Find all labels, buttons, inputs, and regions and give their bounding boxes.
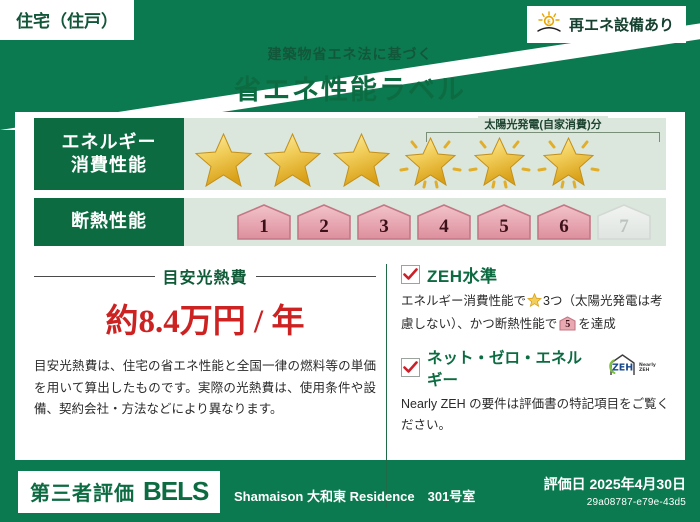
insulation-level-number: 7 — [619, 216, 629, 241]
zeh-house-logo-icon: ZEH Nearly ZEH — [608, 352, 670, 383]
zeh-body-part1: エネルギー消費性能で — [401, 294, 526, 308]
insulation-level-number: 4 — [439, 216, 449, 241]
energy-row-body: 太陽光発電(自家消費)分 — [184, 118, 666, 190]
star-icon — [328, 130, 395, 190]
evaluation-info: 評価日 2025年4月30日 29a08787-e79e-43d5 — [544, 474, 686, 508]
checkbox-checked-icon — [401, 358, 420, 377]
insulation-row-label: 断熱性能 — [34, 198, 184, 246]
cost-heading-text: 目安光熱費 — [163, 264, 248, 288]
net-zero-block: ネット・ゼロ・エネルギー ZEH Nearly ZEH Nearly ZEH の… — [401, 346, 670, 437]
cost-value: 約8.4万円 / 年 — [34, 294, 376, 342]
property-name: Shamaison 大和東 Residence 301号室 — [234, 486, 475, 505]
star-icon — [259, 130, 326, 190]
net-zero-title: ネット・ゼロ・エネルギー — [427, 346, 597, 390]
zeh-standard-title: ZEH水準 — [427, 262, 498, 287]
insulation-row-body: 1 2 3 — [184, 198, 666, 246]
renewable-badge-label: 再エネ設備あり — [569, 14, 674, 35]
insulation-level-inactive: 7 — [596, 203, 652, 241]
zeh-standard-body: エネルギー消費性能で3つ（太陽光発電は考慮しない）、かつ断熱性能で5を達成 — [401, 291, 670, 336]
insulation-badge-number: 5 — [559, 316, 576, 331]
cost-rule-right — [256, 276, 377, 277]
insulation-row: 断熱性能 1 — [34, 198, 666, 246]
svg-text:ZEH: ZEH — [639, 367, 649, 373]
star-icon-solar — [466, 130, 533, 190]
svg-text:E: E — [547, 20, 551, 26]
insulation-row-label-text: 断熱性能 — [71, 211, 147, 232]
bels-en-label: BELS — [143, 476, 208, 507]
insulation-level-number: 1 — [259, 216, 269, 241]
insulation-level: 6 — [536, 203, 592, 241]
energy-consumption-row: エネルギー 消費性能 太陽光発電(自家消費)分 — [34, 118, 666, 190]
evaluation-id: 29a08787-e79e-43d5 — [544, 497, 686, 508]
insulation-level: 5 — [476, 203, 532, 241]
energy-row-label: エネルギー 消費性能 — [34, 118, 184, 190]
performance-rows: エネルギー 消費性能 太陽光発電(自家消費)分 — [34, 118, 666, 254]
title-main: 省エネ性能ラベル — [0, 68, 700, 107]
cost-heading: 目安光熱費 — [34, 264, 376, 288]
svg-text:ZEH: ZEH — [612, 363, 633, 374]
energy-performance-label: 住宅（住戸） E 再エネ設備あり 建築物省エネ法に基づく 省エネ性能ラベル — [0, 0, 700, 522]
star-rating — [184, 118, 602, 190]
star-icon — [190, 130, 257, 190]
insulation-level: 1 — [236, 203, 292, 241]
cost-rule-left — [34, 276, 155, 277]
footer-bar: 第三者評価 BELS Shamaison 大和東 Residence 301号室… — [0, 460, 700, 522]
insulation-level: 3 — [356, 203, 412, 241]
net-zero-header: ネット・ゼロ・エネルギー ZEH Nearly ZEH — [401, 346, 670, 390]
bels-certification-box: 第三者評価 BELS — [18, 471, 220, 513]
insulation-level: 4 — [416, 203, 472, 241]
star-icon-solar — [535, 130, 602, 190]
star-icon-solar — [397, 130, 464, 190]
insulation-level-number: 5 — [499, 216, 509, 241]
evaluation-date: 評価日 2025年4月30日 — [544, 474, 686, 494]
zeh-standard-block: ZEH水準 エネルギー消費性能で3つ（太陽光発電は考慮しない）、かつ断熱性能で5… — [401, 262, 670, 336]
label-title-block: 建築物省エネ法に基づく 省エネ性能ラベル — [0, 44, 700, 107]
title-subtitle: 建築物省エネ法に基づく — [0, 44, 700, 64]
bels-ja-label: 第三者評価 — [30, 477, 135, 506]
building-type-tag: 住宅（住戸） — [0, 0, 134, 40]
insulation-level-number: 6 — [559, 216, 569, 241]
energy-row-label-line1: エネルギー — [62, 132, 157, 153]
insulation-level-number: 3 — [379, 216, 389, 241]
checkbox-checked-icon — [401, 265, 420, 284]
zeh-body-part3: を達成 — [578, 317, 616, 331]
insulation-level-number: 2 — [319, 216, 329, 241]
sun-icon: E — [536, 11, 562, 38]
energy-row-label-line2: 消費性能 — [71, 155, 147, 176]
insulation-badge-inline: 5 — [559, 316, 576, 331]
cost-note: 目安光熱費は、住宅の省エネ性能と全国一律の燃料等の単価を用いて算出したものです。… — [34, 356, 376, 421]
zeh-standard-header: ZEH水準 — [401, 262, 670, 287]
star-icon-inline — [527, 296, 542, 310]
insulation-level: 2 — [296, 203, 352, 241]
renewable-energy-badge: E 再エネ設備あり — [527, 6, 686, 43]
insulation-level-scale: 1 2 3 — [184, 203, 652, 241]
net-zero-body: Nearly ZEH の要件は評価書の特記項目をご覧ください。 — [401, 394, 670, 437]
